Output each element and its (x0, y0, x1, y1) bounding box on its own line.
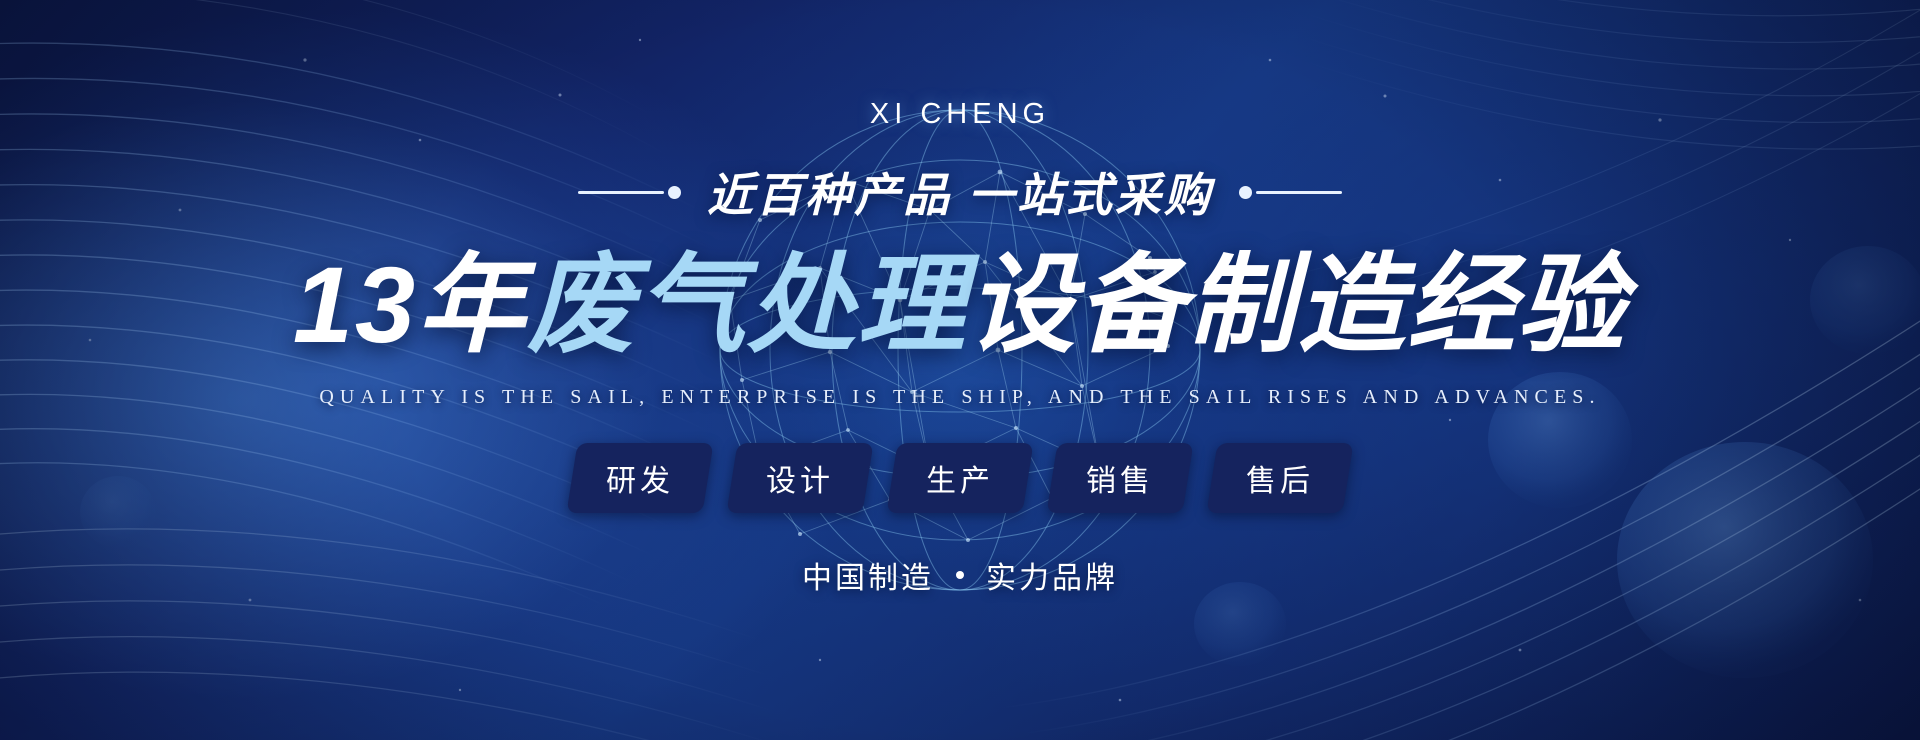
headline-part-1: 13年 (293, 244, 527, 365)
hero-banner: XI CHENG 近百种产品 一站式采购 13年废气处理设备制造经验 QUALI… (0, 0, 1920, 740)
headline-part-3: 设备制造经验 (967, 244, 1627, 365)
brand-name: XI CHENG (870, 98, 1050, 131)
subtitle-row: 近百种产品 一站式采购 (578, 159, 1342, 225)
service-chip-list: 研发 设计 生产 销售 售后 (572, 443, 1348, 513)
footer-slogan: 中国制造 实力品牌 (802, 553, 1118, 597)
subtitle: 近百种产品 一站式采购 (707, 159, 1213, 225)
service-chip-sheji[interactable]: 设计 (726, 443, 873, 513)
left-ornament-icon (578, 186, 681, 199)
service-chip-yanfa[interactable]: 研发 (566, 443, 713, 513)
english-tagline: QUALITY IS THE SAIL, ENTERPRISE IS THE S… (319, 386, 1600, 409)
service-chip-shengchan[interactable]: 生产 (886, 443, 1033, 513)
service-chip-label: 销售 (1086, 456, 1154, 500)
service-chip-label: 生产 (926, 456, 994, 500)
right-ornament-icon (1239, 186, 1342, 199)
headline: 13年废气处理设备制造经验 (293, 245, 1627, 366)
banner-content: XI CHENG 近百种产品 一站式采购 13年废气处理设备制造经验 QUALI… (0, 0, 1920, 740)
service-chip-label: 售后 (1246, 456, 1314, 500)
service-chip-label: 研发 (606, 456, 674, 500)
service-chip-xiaoshou[interactable]: 销售 (1046, 443, 1193, 513)
dot-separator-icon (956, 571, 964, 579)
service-chip-shouhou[interactable]: 售后 (1206, 443, 1353, 513)
footer-right-text: 实力品牌 (986, 553, 1118, 597)
headline-part-2: 废气处理 (527, 244, 967, 365)
service-chip-label: 设计 (766, 456, 834, 500)
footer-left-text: 中国制造 (802, 553, 934, 597)
